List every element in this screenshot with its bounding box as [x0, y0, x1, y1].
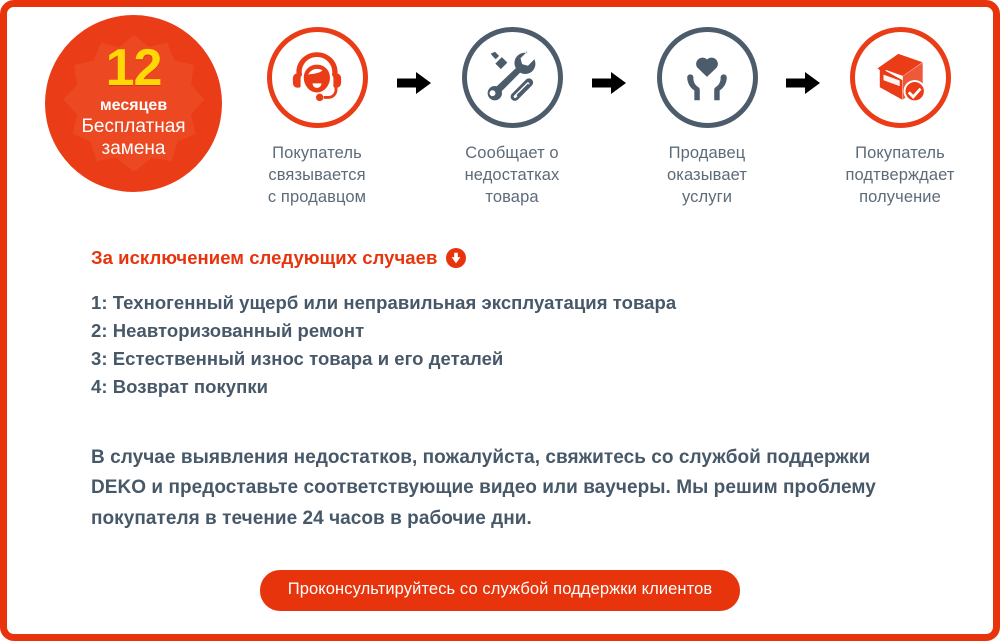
step-1-icon-circle — [267, 27, 368, 128]
warranty-poster: 12 месяцев Бесплатная замена — [0, 0, 1000, 641]
arrow-right-icon-3 — [786, 69, 820, 97]
step-4-icon-circle — [850, 27, 951, 128]
badge-line-2: замена — [81, 138, 185, 160]
step-3-label: Продавец оказывает услуги — [632, 143, 782, 209]
step-2-icon-circle — [462, 27, 563, 128]
step-3-icon-circle — [657, 27, 758, 128]
process-step-2: Сообщает о недостатках товара — [437, 27, 587, 209]
process-step-4: Покупатель подтверждает получение — [825, 27, 975, 209]
package-check-icon — [868, 46, 932, 110]
step-4-label: Покупатель подтверждает получение — [825, 143, 975, 209]
badge-number: 12 — [81, 44, 185, 94]
process-step-1: Покупатель связывается с продавцом — [242, 27, 392, 209]
support-note: В случае выявления недостатков, пожалуйс… — [91, 443, 881, 535]
cta-row: Проконсультируйтесь со службой поддержки… — [7, 570, 993, 611]
exclusion-item: 2: Неавторизованный ремонт — [91, 317, 921, 345]
contact-support-button[interactable]: Проконсультируйтесь со службой поддержки… — [260, 570, 741, 611]
exclusion-item: 3: Естественный износ товара и его детал… — [91, 345, 921, 373]
step-2-label: Сообщает о недостатках товара — [437, 143, 587, 209]
policy-body: За исключением следующих случаев 1: Техн… — [91, 247, 921, 535]
arrow-right-icon-2 — [592, 69, 626, 97]
badge-months-label: месяцев — [81, 97, 185, 115]
exclusions-heading: За исключением следующих случаев — [91, 247, 921, 269]
arrow-right-icon-1 — [397, 69, 431, 97]
arrow-down-circle-icon — [446, 248, 466, 268]
exclusions-heading-text: За исключением следующих случаев — [91, 247, 437, 269]
step-1-label: Покупатель связывается с продавцом — [242, 143, 392, 209]
badge-line-1: Бесплатная — [81, 116, 185, 138]
guarantee-badge: 12 месяцев Бесплатная замена — [45, 15, 222, 192]
exclusions-list: 1: Техногенный ущерб или неправильная эк… — [91, 289, 921, 401]
wrench-screwdriver-icon — [481, 47, 543, 109]
exclusion-item: 1: Техногенный ущерб или неправильная эк… — [91, 289, 921, 317]
headset-support-icon — [284, 45, 350, 111]
process-step-3: Продавец оказывает услуги — [632, 27, 782, 209]
exclusion-item: 4: Возврат покупки — [91, 373, 921, 401]
process-steps-strip: 12 месяцев Бесплатная замена — [7, 7, 993, 219]
heart-in-hands-icon — [677, 48, 737, 108]
